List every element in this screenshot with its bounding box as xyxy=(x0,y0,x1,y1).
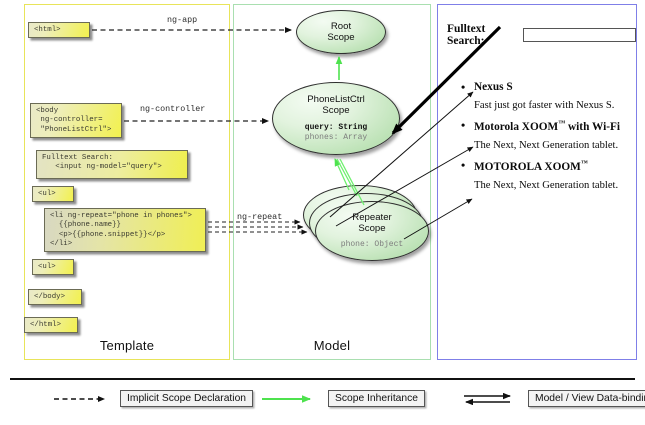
scope-repeater: Repeater Scope phone: Object xyxy=(315,201,429,261)
rendered-view: Fulltext Search: Nexus S Fast just got f… xyxy=(438,5,636,359)
fulltext-search-input[interactable] xyxy=(523,28,636,42)
code-box-html-open: <html> xyxy=(28,22,90,38)
edge-label-ng-controller: ng-controller xyxy=(140,104,205,114)
double-arrow-icon xyxy=(460,391,522,407)
legend-label: Implicit Scope Declaration xyxy=(120,390,253,407)
legend-label: Model / View Data-binding xyxy=(528,390,645,407)
code-box-li-ng-repeat: <li ng-repeat="phone in phones"> {{phone… xyxy=(44,208,206,252)
scope-prop-phone: phone: Object xyxy=(341,240,403,250)
code-box-ul-open: <ul> xyxy=(32,186,74,202)
code-box-html-close: </html> xyxy=(24,317,78,333)
legend-item-model-view-data-binding: Model / View Data-binding xyxy=(460,390,645,407)
dashed-arrow-icon xyxy=(52,391,114,407)
scope-phonelistctrl-line2: Scope xyxy=(322,105,349,116)
green-arrow-icon xyxy=(260,391,322,407)
scope-phonelistctrl-line1: PhoneListCtrl xyxy=(307,94,365,105)
panel-template: Template xyxy=(24,4,230,360)
code-box-body-close: </body> xyxy=(28,289,82,305)
scope-root: Root Scope xyxy=(296,10,386,54)
panel-model-label: Model xyxy=(234,338,430,353)
edge-label-ng-app: ng-app xyxy=(167,15,197,25)
phone-name: Motorola XOOM™ with Wi-Fi xyxy=(458,119,636,133)
scope-root-line2: Scope xyxy=(327,32,354,43)
code-box-ul-close: <ul> xyxy=(32,259,74,275)
panel-template-label: Template xyxy=(25,338,229,353)
legend-item-scope-inheritance: Scope Inheritance xyxy=(260,390,425,407)
phone-list: Nexus S Fast just got faster with Nexus … xyxy=(458,81,636,199)
panel-model: Model xyxy=(233,4,431,360)
scope-phonelistctrl: PhoneListCtrl Scope query: String phones… xyxy=(272,82,400,155)
fulltext-search-row: Fulltext Search: xyxy=(447,23,636,47)
phone-name: Nexus S xyxy=(458,81,636,93)
phone-name-text: MOTOROLA XOOM xyxy=(474,161,581,173)
phone-snippet: The Next, Next Generation tablet. xyxy=(458,180,636,191)
scope-repeater-line1: Repeater xyxy=(352,212,391,223)
trademark-glyph: ™ xyxy=(581,159,588,167)
scope-prop-phones: phones: Array xyxy=(305,133,367,143)
code-box-body-open: <body ng-controller= "PhoneListCtrl"> xyxy=(30,103,122,138)
legend-item-implicit-scope-declaration: Implicit Scope Declaration xyxy=(52,390,253,407)
fulltext-search-label: Fulltext Search: xyxy=(447,23,518,47)
phone-name-suffix: with Wi-Fi xyxy=(565,121,620,133)
list-item: Motorola XOOM™ with Wi-Fi The Next, Next… xyxy=(458,119,636,151)
legend: Implicit Scope Declaration Scope Inherit… xyxy=(10,378,635,420)
phone-snippet: The Next, Next Generation tablet. xyxy=(458,140,636,151)
list-item: Nexus S Fast just got faster with Nexus … xyxy=(458,81,636,111)
scope-repeater-line2: Scope xyxy=(358,223,385,234)
scope-root-line1: Root xyxy=(331,21,351,32)
phone-name: MOTOROLA XOOM™ xyxy=(458,159,636,173)
scope-prop-query: query: String xyxy=(305,123,367,133)
code-box-search-input: Fulltext Search: <input ng-model="query"… xyxy=(36,150,188,179)
list-item: MOTOROLA XOOM™ The Next, Next Generation… xyxy=(458,159,636,191)
diagram-canvas: Template <html> <body ng-controller= "Ph… xyxy=(0,0,645,425)
legend-label: Scope Inheritance xyxy=(328,390,425,407)
legend-divider xyxy=(10,378,635,380)
phone-name-text: Motorola XOOM xyxy=(474,121,558,133)
phone-snippet: Fast just got faster with Nexus S. xyxy=(458,100,636,111)
edge-label-ng-repeat: ng-repeat xyxy=(237,212,282,222)
panel-view: Fulltext Search: Nexus S Fast just got f… xyxy=(437,4,637,360)
